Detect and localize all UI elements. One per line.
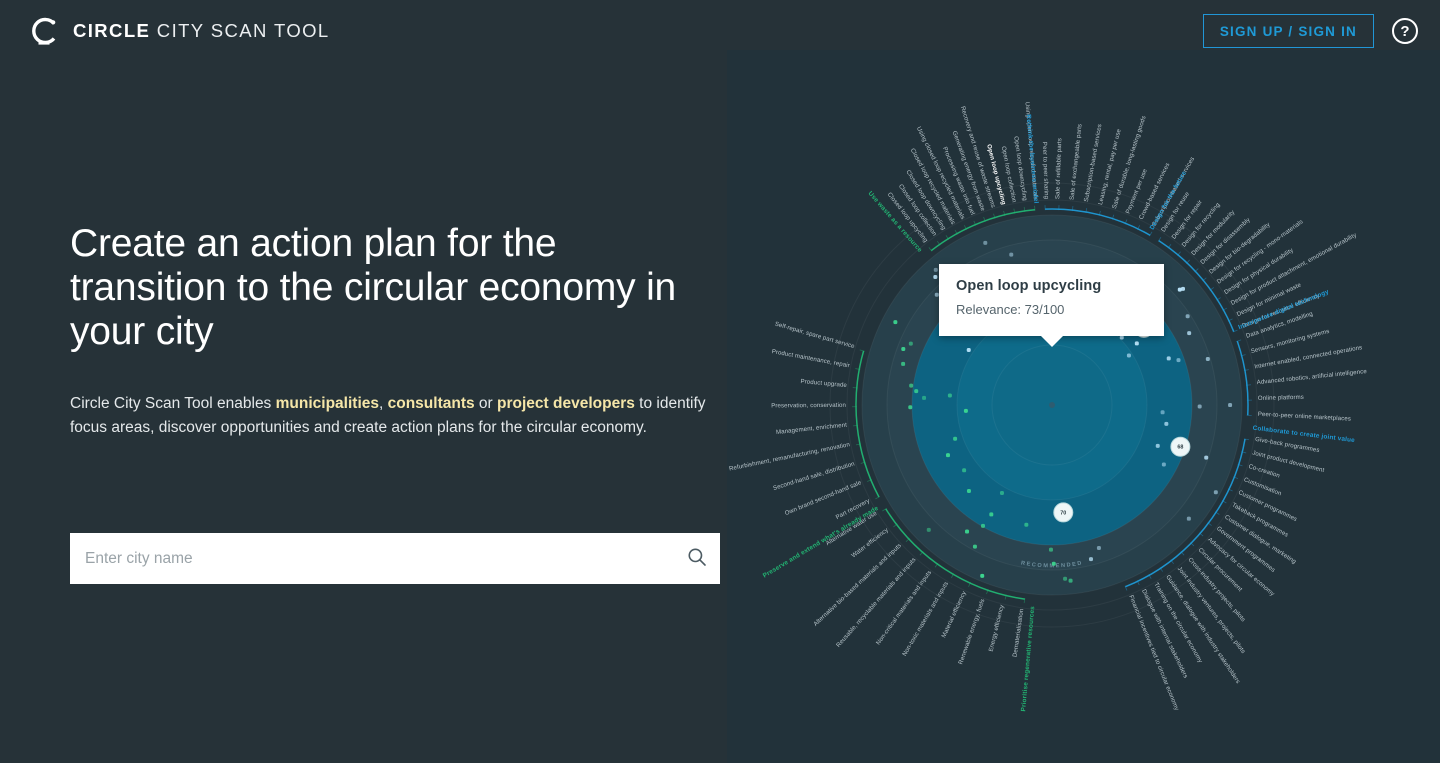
opportunity-dot[interactable] (934, 268, 938, 272)
app-header: CIRCLE CITY SCAN TOOL SIGN UP / SIGN IN … (0, 0, 1440, 62)
opportunity-dot[interactable] (1186, 314, 1190, 318)
hero-highlight-consultants: consultants (388, 395, 475, 412)
opportunity-dot[interactable] (1009, 253, 1013, 257)
strategy-item[interactable]: Sale of refillable parts (1054, 138, 1063, 199)
opportunity-dot[interactable] (1187, 331, 1191, 335)
brand[interactable]: CIRCLE CITY SCAN TOOL (28, 15, 330, 47)
opportunity-dot[interactable] (1135, 341, 1139, 345)
opportunity-dot[interactable] (1198, 404, 1202, 408)
strategy-wheel-panel: RECOMMENDEDUse waste as a resourceClosed… (727, 50, 1440, 763)
strategy-item[interactable]: Preservation, conservation (771, 402, 846, 410)
strategy-item[interactable]: Product maintenance, repair (771, 348, 850, 369)
city-search-box (70, 533, 720, 584)
opportunity-dot[interactable] (948, 393, 952, 397)
question-mark-icon[interactable]: ? (1392, 18, 1418, 44)
opportunity-dot[interactable] (1120, 335, 1124, 339)
opportunity-dot[interactable] (980, 574, 984, 578)
search-icon (687, 547, 707, 570)
page-title: Create an action plan for the transition… (70, 222, 695, 354)
opportunity-dot[interactable] (1049, 548, 1053, 552)
strategy-item[interactable]: Peer-to-peer online marketplaces (1258, 411, 1352, 423)
hero-highlight-project-developers: project developers (497, 395, 635, 412)
opportunity-dot[interactable] (964, 409, 968, 413)
opportunity-dot[interactable] (1204, 456, 1208, 460)
category-tick (929, 247, 932, 251)
opportunity-dot[interactable] (908, 405, 912, 409)
opportunity-dot[interactable] (946, 453, 950, 457)
strategy-item[interactable]: Advanced robotics, artificial intelligen… (1256, 368, 1367, 386)
search-input[interactable] (70, 550, 674, 568)
hero-text-2: , (379, 395, 388, 412)
strategy-item[interactable]: Takeback programmes (1231, 502, 1290, 539)
strategy-item[interactable]: Management, enrichment (776, 422, 848, 436)
strategy-item[interactable]: Non-critical materials and inputs (875, 569, 933, 646)
opportunity-dot[interactable] (1162, 462, 1166, 466)
strategy-item[interactable]: Peer to peer sharing (1041, 142, 1050, 199)
strategy-item[interactable]: Self-repair, spare part service (774, 321, 856, 351)
opportunity-dot[interactable] (909, 384, 913, 388)
radial-chart[interactable]: RECOMMENDEDUse waste as a resourceClosed… (727, 50, 1440, 763)
opportunity-dot[interactable] (983, 241, 987, 245)
strategy-item[interactable]: Product upgrade (800, 378, 847, 389)
category-tick (875, 497, 879, 499)
hero-description: Circle City Scan Tool enables municipali… (70, 392, 710, 440)
category-tick (1236, 340, 1241, 342)
opportunity-dot[interactable] (1024, 523, 1028, 527)
category-tick (1150, 232, 1153, 236)
opportunity-dot[interactable] (1063, 577, 1067, 581)
opportunity-dot[interactable] (901, 362, 905, 366)
opportunity-dot[interactable] (1000, 491, 1004, 495)
opportunity-dot[interactable] (1089, 557, 1093, 561)
opportunity-dot[interactable] (1156, 444, 1160, 448)
search-button[interactable] (674, 533, 720, 584)
opportunity-dot[interactable] (989, 512, 993, 516)
strategy-item[interactable]: Co-creation (1248, 463, 1281, 480)
opportunity-dot[interactable] (1097, 546, 1101, 550)
opportunity-dot[interactable] (981, 524, 985, 528)
chart-tooltip: Open loop upcycling Relevance: 73/100 (939, 264, 1164, 336)
opportunity-dot[interactable] (967, 489, 971, 493)
strategy-item[interactable]: Non-toxic materials and inputs (901, 580, 950, 657)
opportunity-dot[interactable] (893, 320, 897, 324)
hero-text-3: or (475, 395, 497, 412)
score-node-value: 68 (1177, 445, 1183, 451)
category-label[interactable]: Preserve and extend what's already made (762, 505, 880, 580)
opportunity-dot[interactable] (1164, 422, 1168, 426)
strategy-item[interactable]: Customer programmes (1237, 489, 1298, 523)
opportunity-dot[interactable] (927, 528, 931, 532)
circle-c-logo-icon (28, 15, 60, 47)
opportunity-dot[interactable] (953, 437, 957, 441)
opportunity-dot[interactable] (1228, 403, 1232, 407)
sign-up-sign-in-button[interactable]: SIGN UP / SIGN IN (1203, 14, 1374, 48)
category-tick (853, 425, 858, 426)
opportunity-dot[interactable] (1176, 358, 1180, 362)
opportunity-dot[interactable] (1167, 356, 1171, 360)
brand-text: CIRCLE CITY SCAN TOOL (73, 20, 330, 42)
category-tick (860, 350, 865, 351)
header-actions: SIGN UP / SIGN IN ? (1203, 14, 1418, 48)
opportunity-dot[interactable] (1069, 579, 1073, 583)
radial-chart-svg[interactable]: RECOMMENDEDUse waste as a resourceClosed… (727, 50, 1440, 763)
opportunity-dot[interactable] (922, 396, 926, 400)
strategy-item[interactable]: Material efficiency (940, 589, 968, 639)
opportunity-dot[interactable] (967, 348, 971, 352)
hero-section: Create an action plan for the transition… (70, 222, 710, 440)
opportunity-dot[interactable] (973, 545, 977, 549)
opportunity-dot[interactable] (1214, 490, 1218, 494)
chart-center-dot (1049, 402, 1055, 408)
tooltip-relevance: Relevance: 73/100 (956, 302, 1147, 317)
opportunity-dot[interactable] (962, 468, 966, 472)
score-node-value: 70 (1060, 510, 1066, 516)
opportunity-dot[interactable] (1052, 562, 1056, 566)
hero-highlight-municipalities: municipalities (276, 395, 379, 412)
brand-light: CITY SCAN TOOL (150, 20, 329, 41)
strategy-item[interactable]: Online platforms (1258, 394, 1304, 402)
category-tick (1072, 206, 1073, 211)
opportunity-dot[interactable] (1206, 357, 1210, 361)
category-tick (1246, 385, 1251, 386)
strategy-item[interactable]: Energy efficiency (988, 603, 1006, 652)
brand-strong: CIRCLE (73, 20, 150, 41)
opportunity-dot[interactable] (933, 275, 937, 279)
opportunity-dot[interactable] (1161, 410, 1165, 414)
opportunity-dot[interactable] (965, 530, 969, 534)
opportunity-dot[interactable] (1127, 353, 1131, 357)
opportunity-dot[interactable] (1178, 288, 1182, 292)
opportunity-dot[interactable] (909, 342, 913, 346)
page-root: RECOMMENDEDUse waste as a resourceClosed… (0, 0, 1440, 763)
hero-text-1: Circle City Scan Tool enables (70, 395, 276, 412)
strategy-item[interactable]: Sale of exchangeable parts (1069, 124, 1084, 201)
opportunity-dot[interactable] (901, 347, 905, 351)
tooltip-title: Open loop upcycling (956, 278, 1147, 294)
strategy-item[interactable]: Dematerialisation (1012, 608, 1026, 657)
opportunity-dot[interactable] (914, 389, 918, 393)
opportunity-dot[interactable] (1187, 517, 1191, 521)
